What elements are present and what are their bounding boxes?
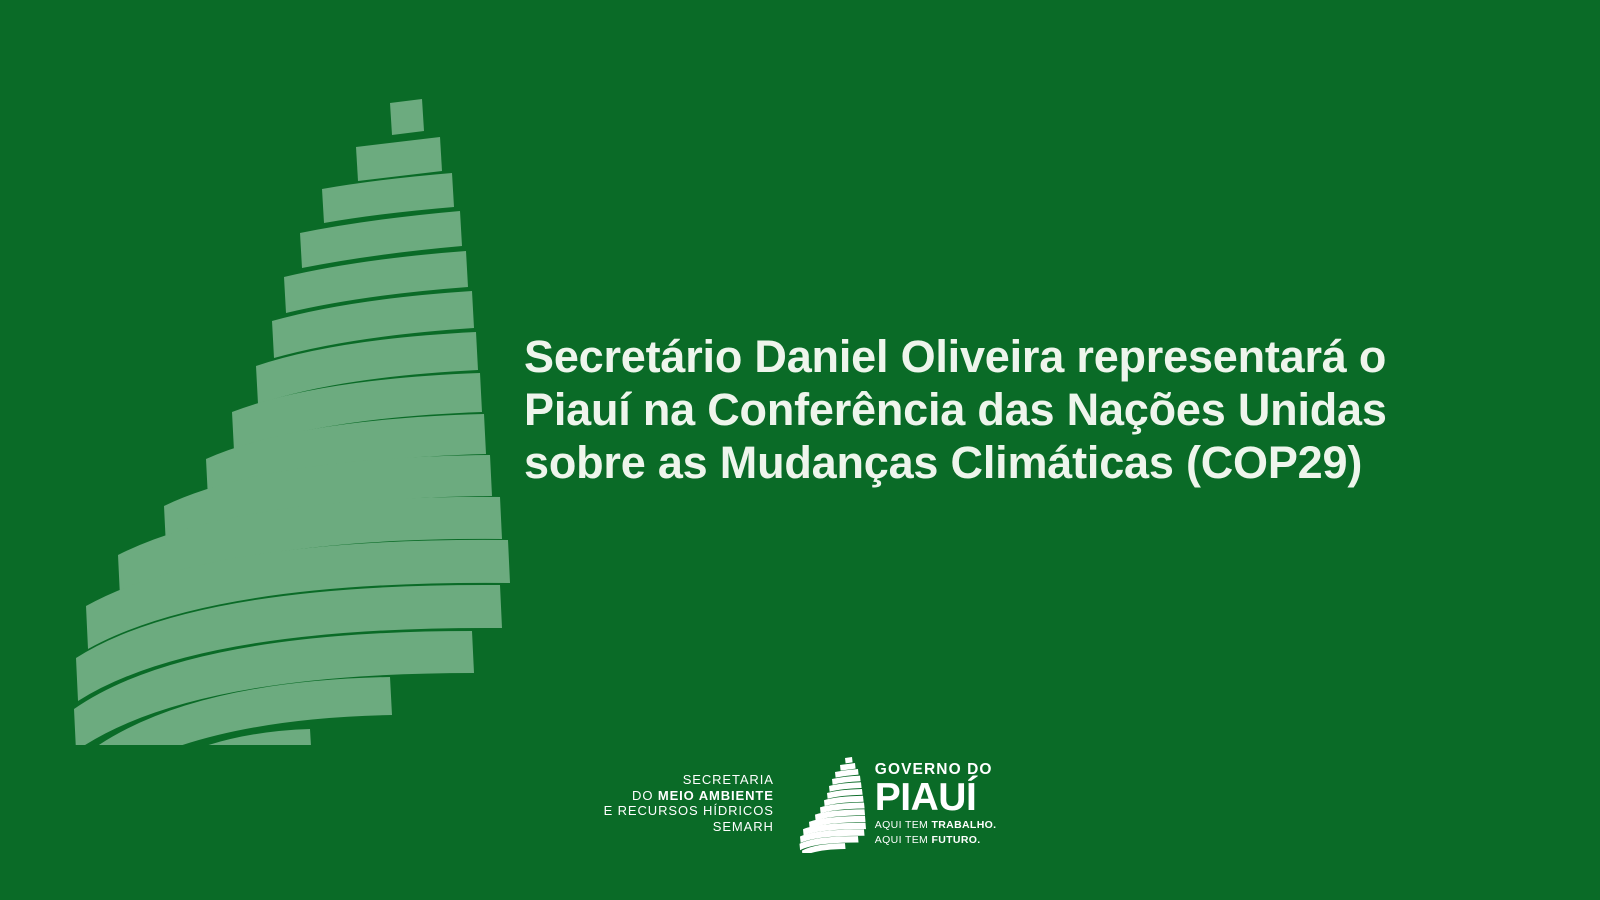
semarh-line-2-emphasis: MEIO AMBIENTE [658,788,774,803]
logo-map-stripe-group [799,757,866,853]
map-stripe-group [74,99,510,745]
footer-logos: SECRETARIA DO MEIO AMBIENTE E RECURSOS H… [0,752,1600,856]
gov-tagline-2-prefix: AQUI TEM [875,834,932,846]
gov-main-label: PIAUÍ [875,780,997,816]
banner-canvas: Secretário Daniel Oliveira representará … [0,0,1600,900]
semarh-wordmark: SECRETARIA DO MEIO AMBIENTE E RECURSOS H… [604,772,774,836]
headline-line-2: Piauí na Conferência das Nações Unidas [524,383,1424,436]
gov-tagline-2: AQUI TEM FUTURO. [875,834,997,847]
semarh-line-3: E RECURSOS HÍDRICOS [604,803,774,819]
headline-line-1: Secretário Daniel Oliveira representará … [524,330,1424,383]
semarh-line-2: DO MEIO AMBIENTE [604,788,774,804]
piaui-state-map-small-icon [798,756,866,853]
gov-tagline-1: AQUI TEM TRABALHO. [875,819,997,832]
headline: Secretário Daniel Oliveira representará … [524,330,1424,489]
governo-do-piaui-wordmark: GOVERNO DO PIAUÍ AQUI TEM TRABALHO. AQUI… [875,762,997,853]
governo-do-piaui-logo: GOVERNO DO PIAUÍ AQUI TEM TRABALHO. AQUI… [798,756,997,853]
gov-tagline-1-prefix: AQUI TEM [875,819,932,831]
semarh-line-1: SECRETARIA [604,772,774,788]
semarh-line-4: SEMARH [604,819,774,835]
piaui-state-map-decoration [60,85,530,745]
headline-line-3: sobre as Mudanças Climáticas (COP29) [524,436,1424,489]
gov-tagline-2-emphasis: FUTURO. [931,834,980,846]
semarh-line-2-prefix: DO [632,788,658,803]
gov-tagline-1-emphasis: TRABALHO. [931,819,996,831]
